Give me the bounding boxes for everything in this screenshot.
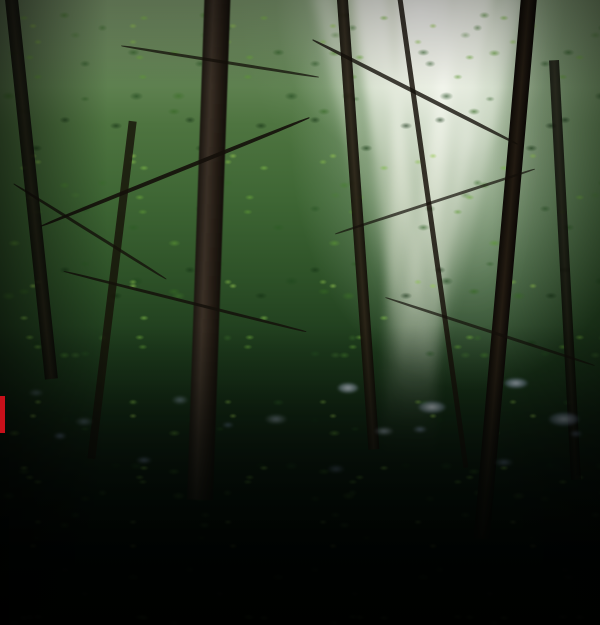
edge-vignette xyxy=(0,0,600,625)
hero-banner: Lead Reforestation Drive at Yagirala in … xyxy=(0,0,600,625)
left-accent-marker xyxy=(0,396,5,433)
forest-photo xyxy=(0,0,600,625)
